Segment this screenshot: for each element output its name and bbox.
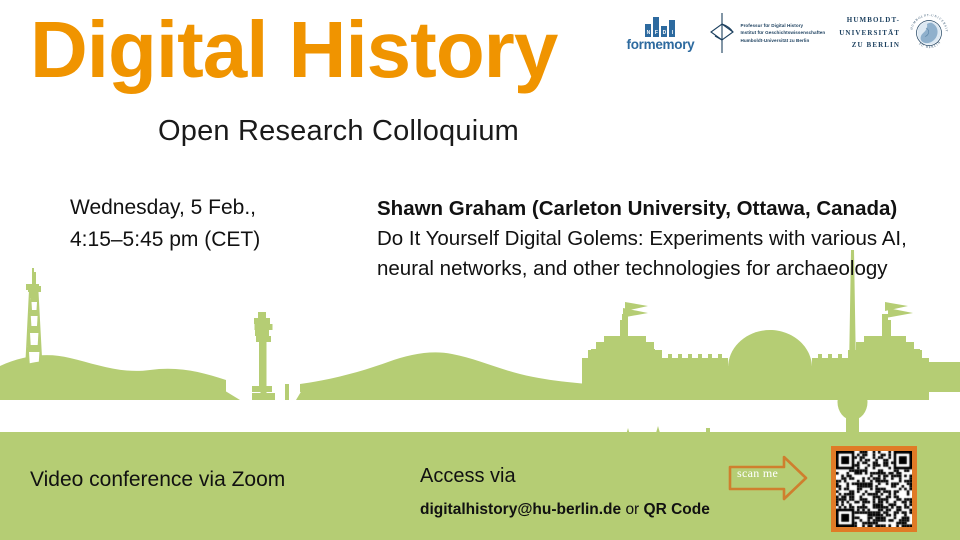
nfdi-letter: I — [669, 30, 675, 36]
humboldt-seal-icon: HUMBOLDT-UNIVERSITÄT ZU BERLIN — [906, 10, 952, 56]
professorship-line-2: Institut für Geschichtswissenschaften — [740, 29, 825, 37]
access-block: Access via digitalhistory@hu-berlin.de o… — [420, 465, 710, 519]
access-heading: Access via — [420, 465, 710, 488]
professorship-line-3: Humboldt-Universität zu Berlin — [740, 37, 825, 45]
nfdi-wordmark: formemory — [627, 37, 695, 52]
humboldt-line-1: HUMBOLDT- — [839, 14, 900, 27]
page-title: Digital History — [30, 12, 630, 88]
title-block: Digital History Open Research Colloquium — [30, 12, 630, 88]
video-conference-note: Video conference via Zoom — [30, 468, 285, 492]
nfdi4memory-logo: N F D I formemory — [625, 15, 695, 52]
nfdi-letter: F — [653, 30, 659, 36]
humboldt-line-2: UNIVERSITÄT — [839, 27, 900, 40]
access-or: or — [625, 501, 639, 518]
nfdi-letter: D — [661, 30, 667, 36]
nfdi-letters: N F D I — [645, 30, 675, 36]
event-datetime: Wednesday, 5 Feb., 4:15–5:45 pm (CET) — [70, 192, 260, 255]
humboldt-wordmark: HUMBOLDT- UNIVERSITÄT ZU BERLIN — [839, 14, 900, 53]
humboldt-line-3: ZU BERLIN — [839, 39, 900, 52]
professorship-mark-icon — [709, 12, 735, 54]
qr-code-label: QR Code — [644, 501, 710, 518]
professorship-text: Professur für Digital History Institut f… — [740, 22, 825, 45]
qr-code[interactable] — [831, 446, 917, 532]
professorship-logo: Professur für Digital History Institut f… — [709, 12, 825, 54]
event-date: Wednesday, 5 Feb., — [70, 192, 260, 224]
page-subtitle: Open Research Colloquium — [158, 115, 519, 148]
event-time: 4:15–5:45 pm (CET) — [70, 224, 260, 256]
humboldt-university-logo: HUMBOLDT- UNIVERSITÄT ZU BERLIN HUMBOLDT… — [839, 10, 952, 56]
poster-canvas: Digital History Open Research Colloquium… — [0, 0, 960, 540]
professorship-line-1: Professur für Digital History — [740, 22, 825, 30]
qr-code-image — [836, 451, 912, 527]
access-details: digitalhistory@hu-berlin.de or QR Code — [420, 501, 710, 519]
speaker-name: Shawn Graham (Carleton University, Ottaw… — [377, 194, 907, 224]
nfdi-letter: N — [645, 30, 651, 36]
contact-email[interactable]: digitalhistory@hu-berlin.de — [420, 501, 621, 518]
scan-me-label: scan me — [737, 466, 778, 481]
talk-info: Shawn Graham (Carleton University, Ottaw… — [377, 194, 907, 284]
logo-row: N F D I formemory Professur für Digital … — [625, 10, 952, 56]
talk-title: Do It Yourself Digital Golems: Experimen… — [377, 224, 907, 284]
